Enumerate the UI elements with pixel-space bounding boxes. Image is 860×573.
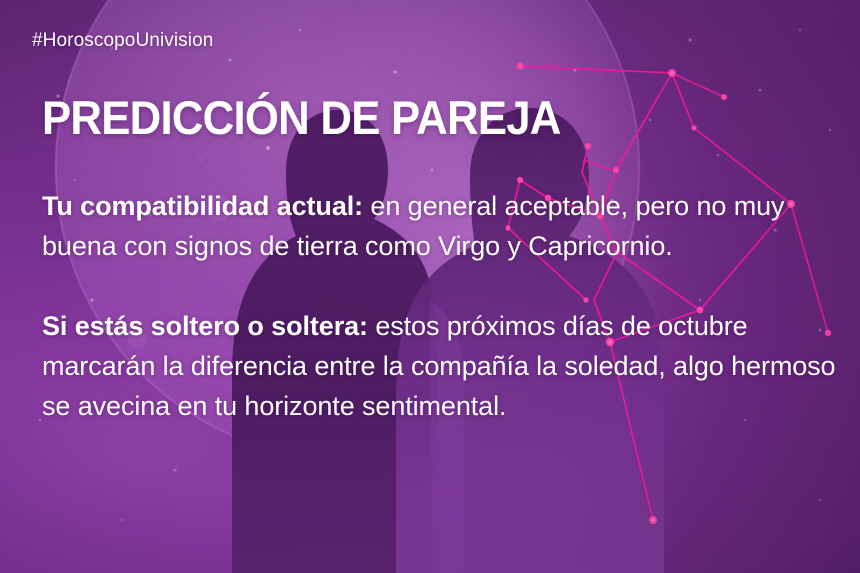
paragraph-compatibility: Tu compatibilidad actual: en general ace… — [42, 186, 842, 266]
paragraph-lead-compatibility: Tu compatibilidad actual: — [42, 191, 363, 221]
prediction-body: Tu compatibilidad actual: en general ace… — [42, 186, 842, 426]
horoscope-card: #HoroscopoUnivision PREDICCIÓN DE PAREJA… — [0, 0, 860, 573]
paragraph-lead-single: Si estás soltero o soltera: — [42, 311, 368, 341]
paragraph-single: Si estás soltero o soltera: estos próxim… — [42, 306, 842, 426]
page-title: PREDICCIÓN DE PAREJA — [42, 93, 561, 143]
card-content: #HoroscopoUnivision PREDICCIÓN DE PAREJA… — [0, 0, 860, 573]
hashtag-label: #HoroscopoUnivision — [32, 30, 213, 52]
